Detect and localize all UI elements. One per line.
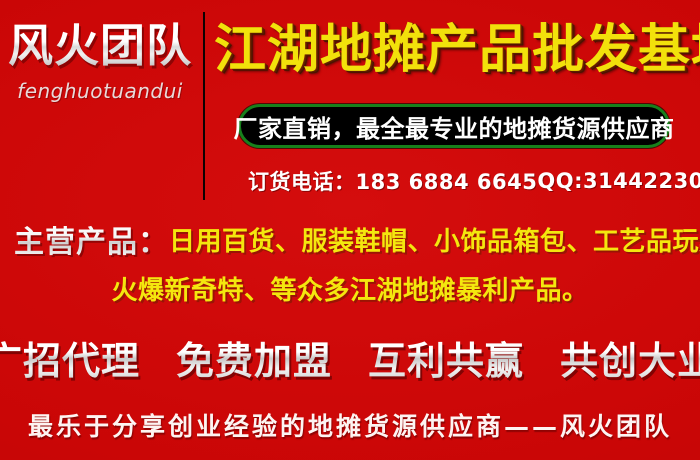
slogan-item: 免费加盟	[176, 330, 332, 385]
slogan-item: 广招代理	[0, 330, 140, 385]
products-label: 主营产品：	[14, 217, 169, 261]
products-items-line-2: 火爆新奇特、等众多江湖地摊暴利产品。	[111, 276, 588, 306]
slogans-row: 广招代理 免费加盟 互利共赢 共创大业	[0, 328, 700, 386]
qq-number: QQ:314422306	[537, 169, 700, 193]
top-section: 风火团队 fenghuotuandui 江湖地摊产品批发基地 厂家直销，最全最专…	[0, 0, 700, 208]
slogan-item: 共创大业	[560, 330, 700, 385]
phone-number: 订货电话：183 6884 6645	[248, 166, 537, 196]
vertical-divider	[203, 12, 205, 200]
headline-title: 江湖地摊产品批发基地	[214, 22, 692, 78]
brand-logo-block: 风火团队 fenghuotuandui	[0, 22, 200, 152]
brand-pinyin: fenghuotuandui	[0, 79, 200, 103]
products-line-1: 主营产品： 日用百货、服装鞋帽、小饰品箱包、工艺品玩具、	[14, 214, 700, 264]
products-items-line-1: 日用百货、服装鞋帽、小饰品箱包、工艺品玩具、	[169, 221, 700, 258]
footer-slogan: 最乐于分享创业经验的地摊货源供应商——风火团队	[28, 412, 672, 441]
tagline-pill: 厂家直销，最全最专业的地摊货源供应商	[238, 104, 670, 148]
tagline-text: 厂家直销，最全最专业的地摊货源供应商	[234, 109, 675, 144]
slogan-item: 互利共赢	[368, 330, 524, 385]
promotional-banner: 风火团队 fenghuotuandui 江湖地摊产品批发基地 厂家直销，最全最专…	[0, 0, 700, 460]
products-line-2: 火爆新奇特、等众多江湖地摊暴利产品。	[0, 268, 700, 314]
products-section: 主营产品： 日用百货、服装鞋帽、小饰品箱包、工艺品玩具、 火爆新奇特、等众多江湖…	[0, 214, 700, 318]
contact-row: 订货电话：183 6884 6645 QQ:314422306	[214, 166, 692, 196]
brand-name: 风火团队	[0, 22, 200, 69]
footer-row: 最乐于分享创业经验的地摊货源供应商——风火团队	[0, 400, 700, 454]
